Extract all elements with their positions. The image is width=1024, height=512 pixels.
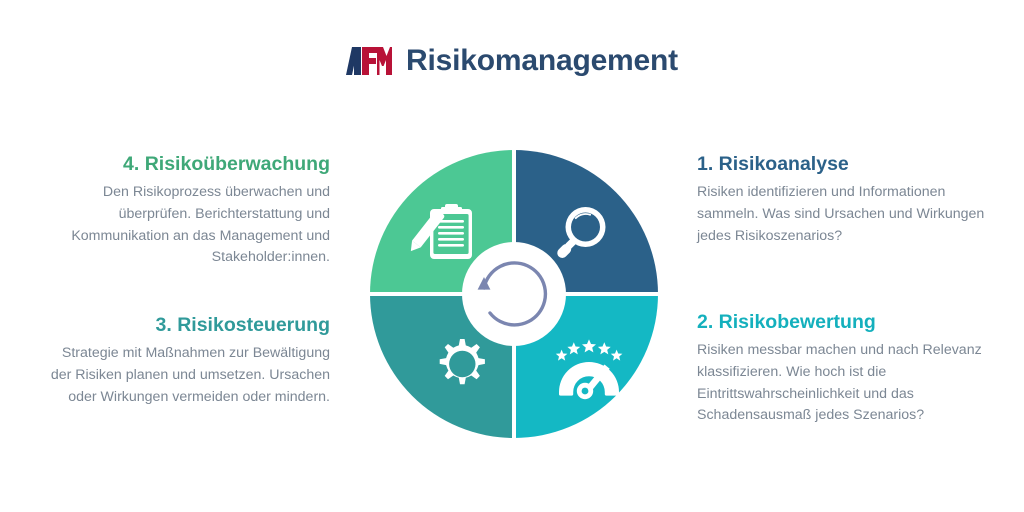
risk-management-cycle-wheel	[366, 146, 662, 442]
step-body-control: Strategie mit Maßnahmen zur Bewältigung …	[40, 343, 330, 408]
step-block-analysis: 1. Risikoanalyse Risiken identifizieren …	[697, 152, 997, 247]
step-block-monitoring: 4. Risikoüberwachung Den Risikoprozess ü…	[40, 152, 330, 269]
step-heading-control: 3. Risikosteuerung	[40, 313, 330, 337]
step-heading-assessment: 2. Risikobewertung	[697, 310, 997, 334]
step-body-monitoring: Den Risikoprozess überwachen und überprü…	[40, 182, 330, 268]
page-header: Risikomanagement	[0, 44, 1024, 78]
page-title: Risikomanagement	[406, 44, 678, 78]
wheel-center-hub	[466, 246, 562, 342]
step-block-assessment: 2. Risikobewertung Risiken messbar mache…	[697, 310, 997, 427]
ifm-logo	[346, 47, 392, 75]
step-heading-analysis: 1. Risikoanalyse	[697, 152, 997, 176]
step-body-assessment: Risiken messbar machen und nach Relevanz…	[697, 340, 997, 426]
step-body-analysis: Risiken identifizieren und Informationen…	[697, 182, 997, 247]
step-heading-monitoring: 4. Risikoüberwachung	[40, 152, 330, 176]
step-block-control: 3. Risikosteuerung Strategie mit Maßnahm…	[40, 313, 330, 408]
